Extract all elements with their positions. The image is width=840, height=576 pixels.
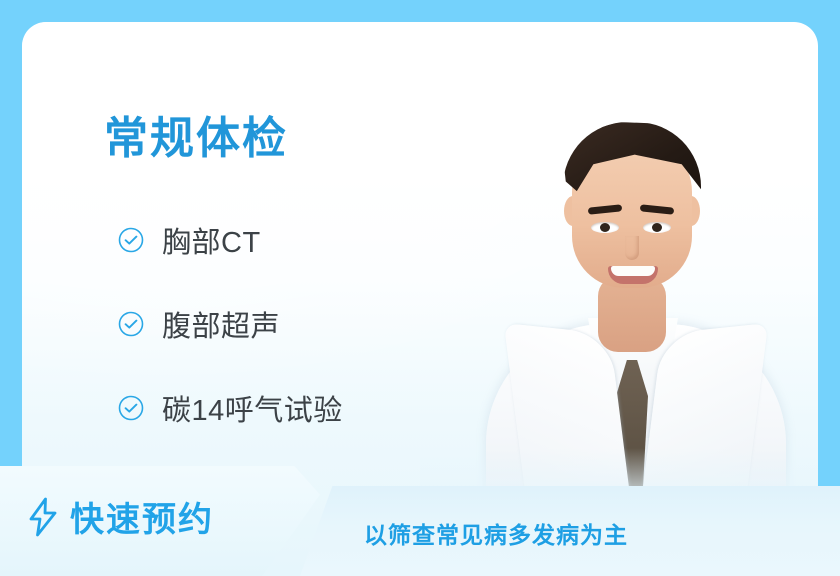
feature-label: 胸部CT [162, 219, 261, 261]
feature-list: 胸部CT 腹部超声 碳14呼气试验 [118, 210, 448, 438]
check-circle-icon [118, 395, 144, 421]
page-title: 常规体检 [104, 117, 288, 161]
check-circle-icon [118, 227, 144, 253]
lightning-bolt-icon [26, 497, 60, 537]
list-item: 胸部CT [118, 210, 448, 270]
quick-booking-label: 快速预约 [70, 492, 214, 541]
list-item: 碳14呼气试验 [118, 378, 448, 438]
feature-label: 腹部超声 [162, 303, 280, 345]
tagline-text: 以筛查常见病多发病为主 [364, 516, 628, 550]
doctor-teeth [611, 266, 655, 276]
list-item: 腹部超声 [118, 294, 448, 354]
quick-booking-button[interactable]: 快速预约 [26, 492, 214, 541]
feature-label: 碳14呼气试验 [162, 387, 343, 429]
check-circle-icon [118, 311, 144, 337]
doctor-eye-right [643, 222, 671, 233]
doctor-eye-left [591, 222, 619, 233]
doctor-photo [420, 78, 818, 508]
doctor-nose [625, 236, 639, 260]
promo-banner: 常规体检 胸部CT 腹部超声 [0, 0, 840, 576]
doctor-mouth [608, 266, 658, 284]
